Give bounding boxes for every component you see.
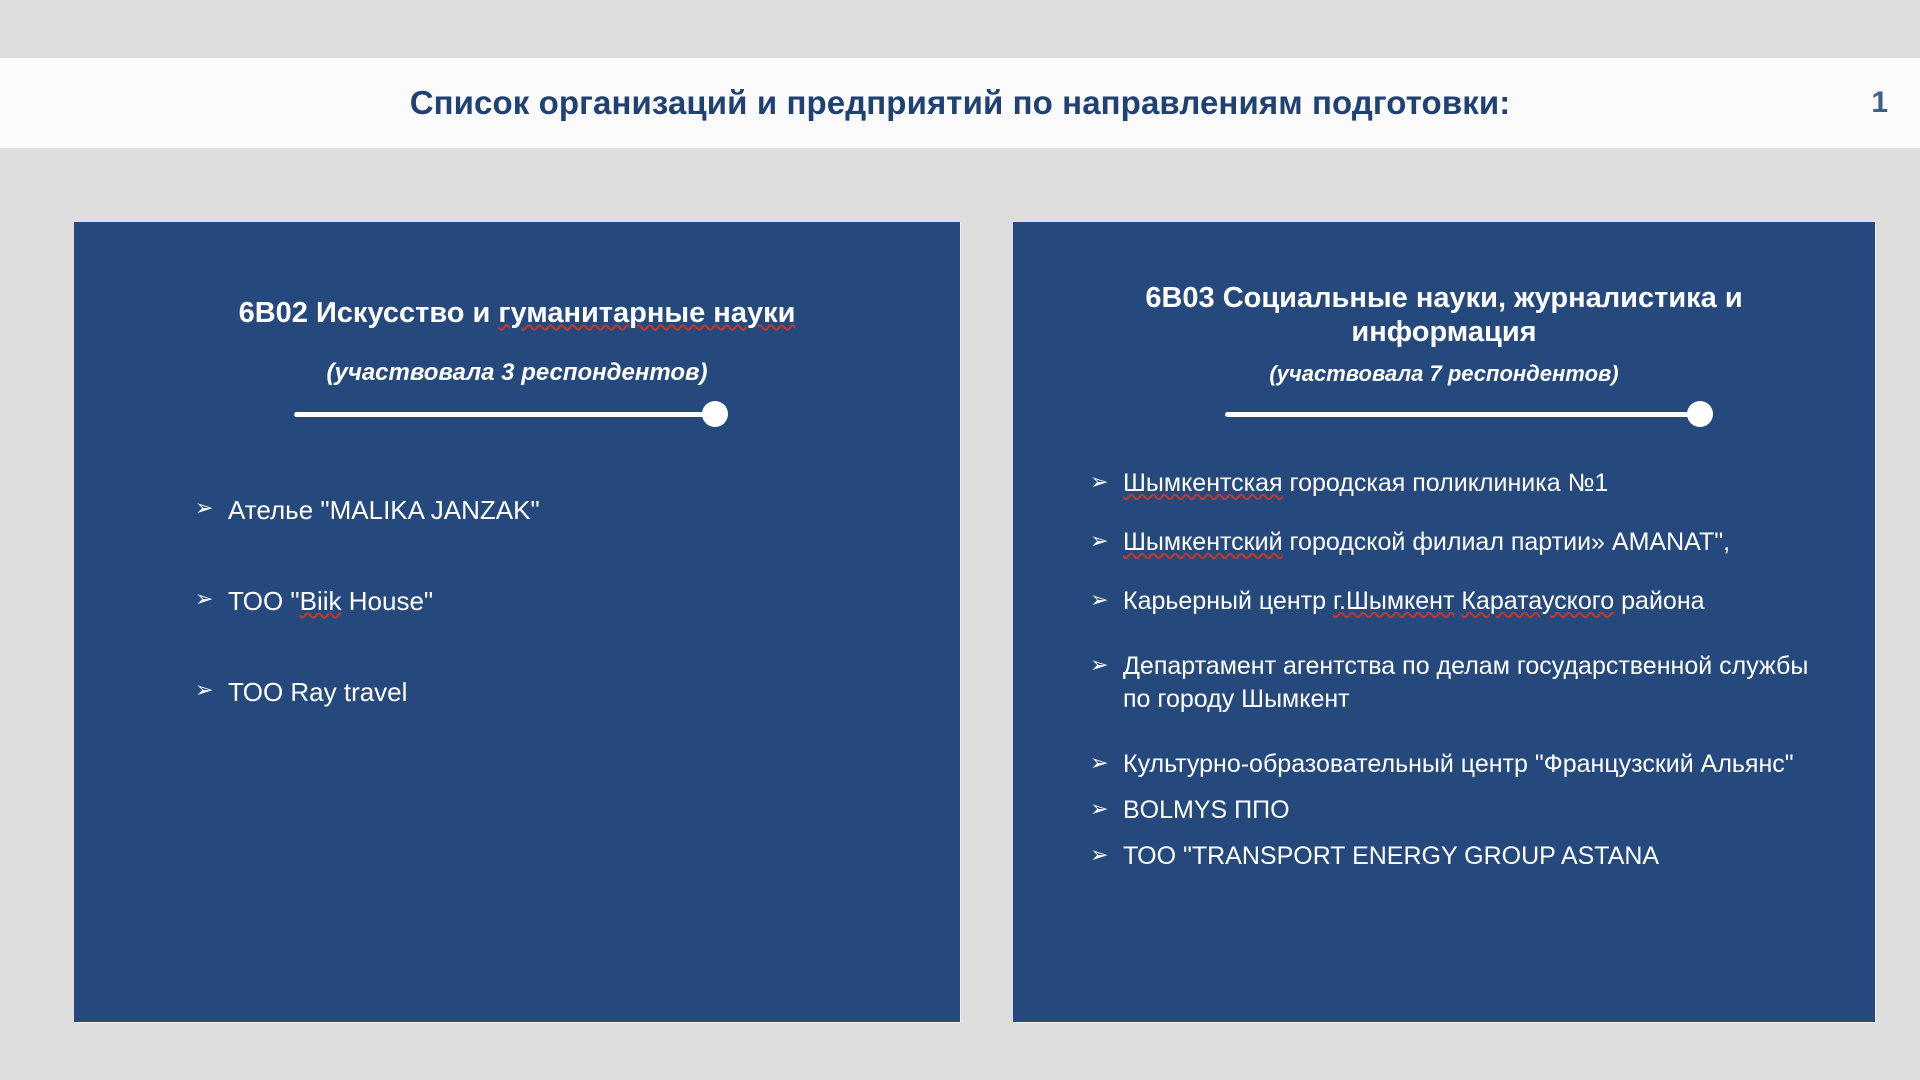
- list-item-label: Департамент агентства по делам государст…: [1123, 650, 1823, 716]
- text-before: Карьерный центр: [1123, 587, 1333, 615]
- list-item-label: Шымкентская городская поликлиника №1: [1123, 467, 1823, 500]
- list-item: ➢ ТОО "TRANSPORT ENERGY GROUP ASTANA: [1090, 840, 1875, 873]
- list-item-label: ТОО Ray travel: [228, 675, 960, 709]
- text-after: района: [1614, 587, 1704, 615]
- slider-knob[interactable]: [702, 401, 728, 427]
- arrowhead-bullet-icon: ➢: [195, 493, 228, 522]
- list-item-label: Карьерный центр г.Шымкент Каратауского р…: [1123, 585, 1823, 618]
- arrowhead-bullet-icon: ➢: [1090, 794, 1123, 823]
- text-before: ТОО ": [228, 586, 300, 616]
- slide-number: 1: [1871, 86, 1888, 120]
- slider-knob[interactable]: [1687, 401, 1713, 427]
- slider-track[interactable]: [1225, 412, 1700, 417]
- arrowhead-bullet-icon: ➢: [1090, 585, 1123, 614]
- text-misspelled: Шымкентский: [1123, 528, 1283, 556]
- list-item: ➢ Культурно-образовательный центр "Франц…: [1090, 748, 1875, 781]
- page-title: Список организаций и предприятий по напр…: [0, 84, 1920, 122]
- organization-list-6v03: ➢ Шымкентская городская поликлиника №1 ➢…: [1090, 467, 1875, 873]
- list-item: ➢ ТОО Ray travel: [195, 675, 960, 709]
- list-item: ➢ Ателье "MALIKA JANZAK": [195, 493, 960, 527]
- text-misspelled: Biik: [300, 586, 342, 616]
- arrowhead-bullet-icon: ➢: [1090, 526, 1123, 555]
- list-item-label: Ателье "MALIKA JANZAK": [228, 493, 960, 527]
- arrowhead-bullet-icon: ➢: [195, 675, 228, 704]
- arrowhead-bullet-icon: ➢: [1090, 748, 1123, 777]
- respondents-slider-6v02[interactable]: [294, 401, 728, 427]
- panel-subheading-6v03: (участвовала 7 респондентов): [1013, 361, 1875, 387]
- list-item-label: Шымкентский городской филиал партии» AMA…: [1123, 526, 1823, 559]
- list-item-label: ТОО "TRANSPORT ENERGY GROUP ASTANA: [1123, 840, 1823, 873]
- list-item-label: Культурно-образовательный центр "Француз…: [1123, 748, 1823, 781]
- text-after: городской филиал партии» AMANAT",: [1283, 528, 1731, 556]
- organization-list-6v02: ➢ Ателье "MALIKA JANZAK" ➢ ТОО "Biik Hou…: [195, 493, 960, 710]
- text-after: городская поликлиника №1: [1283, 469, 1609, 497]
- heading-text-normal: 6В02 Искусство и: [239, 297, 499, 329]
- text-misspelled: г.Шымкент: [1333, 587, 1454, 615]
- panel-6v03: 6В03 Социальные науки, журналистика и ин…: [1013, 222, 1875, 1022]
- arrowhead-bullet-icon: ➢: [1090, 840, 1123, 869]
- list-item-label: BOLMYS ППО: [1123, 794, 1823, 827]
- arrowhead-bullet-icon: ➢: [195, 584, 228, 613]
- text-misspelled: Шымкентская: [1123, 469, 1283, 497]
- panel-heading-6v03: 6В03 Социальные науки, журналистика и ин…: [1059, 282, 1829, 349]
- text-misspelled-2: Каратауского: [1461, 587, 1614, 615]
- arrowhead-bullet-icon: ➢: [1090, 650, 1123, 679]
- list-item: ➢ Шымкентская городская поликлиника №1: [1090, 467, 1875, 500]
- slider-track[interactable]: [294, 412, 715, 417]
- respondents-slider-6v03[interactable]: [1225, 401, 1713, 427]
- heading-text-misspelled: гуманитарные науки: [498, 297, 795, 329]
- list-item-label: ТОО "Biik House": [228, 584, 960, 618]
- list-item: ➢ BOLMYS ППО: [1090, 794, 1875, 827]
- panel-subheading-6v02: (участвовала 3 респондентов): [74, 359, 960, 387]
- list-item: ➢ Шымкентский городской филиал партии» A…: [1090, 526, 1875, 559]
- slide-title-band: Список организаций и предприятий по напр…: [0, 58, 1920, 148]
- panel-6v02: 6В02 Искусство и гуманитарные науки (уча…: [74, 222, 960, 1022]
- list-item: ➢ ТОО "Biik House": [195, 584, 960, 618]
- arrowhead-bullet-icon: ➢: [1090, 467, 1123, 496]
- text-after: House": [342, 586, 434, 616]
- list-item: ➢ Карьерный центр г.Шымкент Каратауского…: [1090, 585, 1875, 618]
- list-item: ➢ Департамент агентства по делам государ…: [1090, 650, 1875, 716]
- panel-heading-6v02: 6В02 Искусство и гуманитарные науки: [114, 297, 920, 331]
